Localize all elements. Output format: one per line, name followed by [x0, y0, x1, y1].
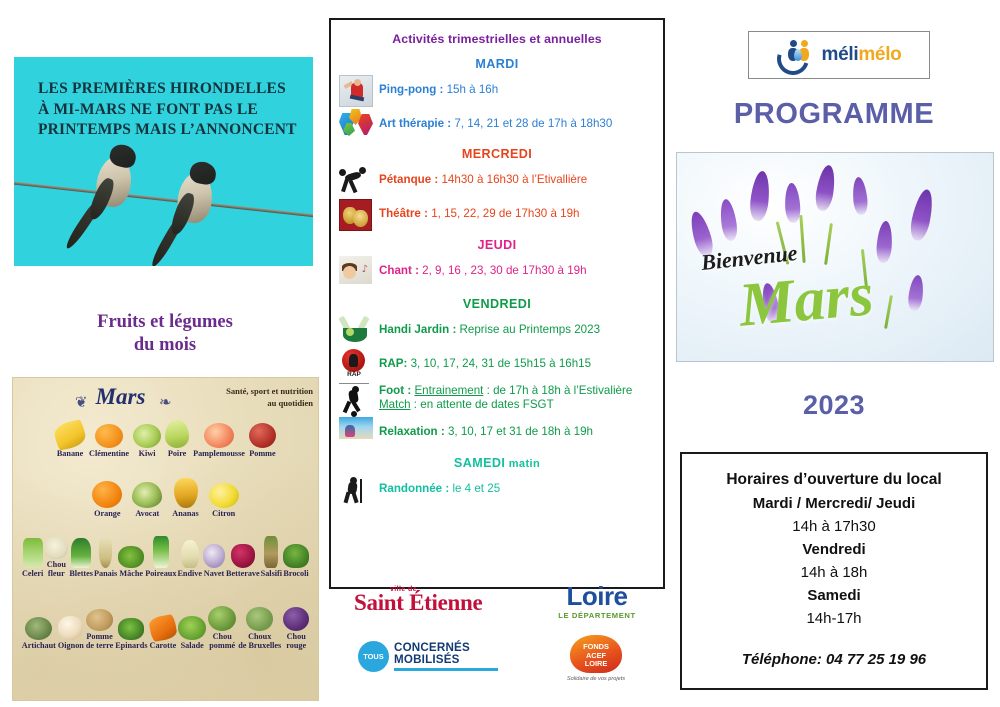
activity-petanque: Pétanque : 14h30 à 16h30 à l’Etivallière — [331, 165, 663, 195]
orangef-icon — [92, 481, 122, 508]
produce-item-label: Citron — [212, 509, 235, 518]
produce-row-fruits-1: BananeClémentineKiwiPoirePamplemoussePom… — [13, 420, 318, 458]
theatre-text: Théâtre : 1, 15, 22, 29 de 17h30 à 19h — [379, 207, 579, 221]
logo-loire-departement: Loire LE DÉPARTEMENT — [542, 583, 652, 620]
produce-item-label: Brocoli — [283, 569, 308, 578]
produce-title-line-2: du mois — [0, 334, 330, 357]
pample-icon — [204, 423, 234, 448]
artichaut-icon — [25, 617, 52, 640]
tous-badge: TOUS — [358, 641, 389, 672]
mache-icon — [118, 546, 144, 568]
foot-line-2: Match : en attente de dates FSGT — [379, 398, 632, 412]
produce-item-label: Panais — [94, 569, 117, 578]
ananas-icon — [174, 478, 198, 508]
produce-item: Avocat — [132, 478, 162, 518]
chant-name: Chant : — [379, 264, 419, 277]
produce-item-label: Salade — [181, 641, 204, 650]
tcm-underline — [394, 668, 498, 671]
proverb-text: LES PREMIÈRES HIRONDELLES À MI-MARS NE F… — [38, 79, 300, 141]
carotte-icon — [148, 614, 178, 642]
foot-training-label: Entrainement — [414, 384, 483, 397]
relaxation-detail: 3, 10, 17 et 31 de 18h à 19h — [445, 425, 593, 438]
salsifi-icon — [264, 536, 278, 568]
poireaux-icon — [153, 536, 169, 568]
day-header-samedi-label: SAMEDI — [454, 456, 505, 470]
randonnee-detail: le 4 et 25 — [449, 482, 500, 495]
produce-item: Orange — [92, 478, 122, 518]
logo-part-2: mélo — [858, 44, 901, 65]
produce-item: Celeri — [22, 536, 43, 578]
produce-item-label: Salsifi — [261, 569, 282, 578]
produce-item-label: Chou rouge — [286, 632, 306, 650]
produce-item: Salade — [178, 606, 206, 650]
citron-icon — [209, 483, 239, 508]
produce-item: Mâche — [118, 536, 144, 578]
petanque-text: Pétanque : 14h30 à 16h30 à l’Etivallière — [379, 173, 587, 187]
produce-item: Brocoli — [283, 536, 309, 578]
produce-item-label: Carotte — [150, 641, 177, 650]
acef-line-3: LOIRE — [585, 659, 608, 668]
chourouge-icon — [283, 607, 309, 631]
pomme-icon — [249, 423, 276, 448]
produce-item-label: Mâche — [119, 569, 143, 578]
oignon-icon — [58, 616, 83, 640]
navet-icon — [203, 544, 225, 568]
hours-days-1: Mardi / Mercredi/ Jeudi — [682, 495, 986, 512]
panais-icon — [99, 538, 112, 568]
produce-item: Kiwi — [133, 420, 161, 458]
hours-days-2: Vendredi — [682, 541, 986, 558]
produce-item: Salsifi — [261, 536, 282, 578]
randonnee-name: Randonnée : — [379, 482, 449, 495]
produce-item-label: Artichaut — [22, 641, 56, 650]
tcm-line-2: MOBILISÉS — [394, 654, 498, 666]
produce-item: Chou pommé — [208, 606, 236, 650]
schedule-title: Activités trimestrielles et annuelles — [331, 32, 663, 46]
produce-item: Chou fleur — [44, 536, 68, 578]
produce-item-label: Chou fleur — [47, 560, 66, 578]
produce-month-label: Mars — [13, 384, 228, 410]
avocat-icon — [132, 482, 162, 508]
loire-subtitle: LE DÉPARTEMENT — [542, 611, 652, 620]
program-flyer: LES PREMIÈRES HIRONDELLES À MI-MARS NE F… — [0, 0, 1000, 707]
produce-item-label: Blettes — [69, 569, 93, 578]
produce-row-fruits-2: OrangeAvocatAnanasCitron — [13, 478, 318, 518]
produce-item-label: Avocat — [135, 509, 159, 518]
betterave-icon — [231, 544, 255, 568]
produce-item: Poireaux — [145, 536, 176, 578]
foot-line-1: Foot : Entrainement : de 17h à 18h à l’E… — [379, 384, 632, 398]
produce-item: Panais — [94, 536, 117, 578]
produce-item-label: Oignon — [58, 641, 84, 650]
produce-item-label: Navet — [204, 569, 224, 578]
produce-item: Clémentine — [89, 420, 129, 458]
produce-tagline: Santé, sport et nutrition au quotidien — [201, 385, 313, 410]
ping-pong-text: Ping-pong : 15h à 16h — [379, 83, 498, 97]
theatre-name: Théâtre : — [379, 207, 428, 220]
day-header-mercredi: MERCREDI — [331, 147, 663, 161]
randonnee-text: Randonnée : le 4 et 25 — [379, 482, 500, 496]
swallow-proverb-poster: LES PREMIÈRES HIRONDELLES À MI-MARS NE F… — [14, 57, 313, 266]
chant-text: Chant : 2, 9, 16 , 23, 30 de 17h30 à 19h — [379, 264, 587, 278]
day-header-jeudi: JEUDI — [331, 238, 663, 252]
produce-item: Choux de Bruxelles — [238, 606, 281, 650]
banana-icon — [53, 419, 88, 451]
opening-hours-box: Horaires d’ouverture du local Mardi / Me… — [680, 452, 988, 690]
theatre-masks-icon — [339, 199, 373, 229]
hiker-icon — [339, 474, 373, 504]
produce-item: Navet — [203, 536, 225, 578]
hours-days-3: Samedi — [682, 587, 986, 604]
activity-randonnee: Randonnée : le 4 et 25 — [331, 474, 663, 504]
produce-item-label: Pomme de terre — [86, 632, 113, 650]
produce-item: Chou rouge — [283, 606, 309, 650]
art-therapie-name: Art thérapie : — [379, 117, 451, 130]
handi-jardin-name: Handi Jardin : — [379, 323, 456, 336]
produce-item-label: Ananas — [172, 509, 198, 518]
epinards-icon — [118, 618, 144, 640]
rap-icon-label: RAP — [339, 371, 369, 378]
activity-chant: ♪ Chant : 2, 9, 16 , 23, 30 de 17h30 à 1… — [331, 256, 663, 286]
proverb-line-1: LES PREMIÈRES HIRONDELLES — [38, 79, 300, 100]
produce-item: Epinards — [115, 606, 147, 650]
acef-subtitle: Solidaire de vos projets — [548, 676, 644, 682]
activity-ping-pong: Ping-pong : 15h à 16h — [331, 75, 663, 105]
produce-item: Betterave — [226, 536, 260, 578]
produce-item-label: Pomme — [249, 449, 275, 458]
logo-part-1: méli — [822, 44, 859, 65]
mars-welcome-image: Bienvenue Mars — [676, 152, 994, 362]
phone-number: Téléphone: 04 77 25 19 96 — [682, 651, 986, 668]
tcm-text: CONCERNÉS MOBILISÉS — [394, 642, 498, 672]
kiwi-icon — [133, 424, 161, 448]
day-header-vendredi: VENDREDI — [331, 297, 663, 311]
saint-etienne-prefix: ville de — [390, 586, 417, 593]
acef-text: FONDS ACEF LOIRE — [570, 643, 622, 669]
hours-time-2: 14h à 18h — [682, 564, 986, 581]
produce-item: Carotte — [150, 606, 177, 650]
sponsor-logos: ville de Saint Étienne Loire LE DÉPARTEM… — [330, 583, 670, 703]
wire-line — [14, 181, 313, 219]
saint-etienne-name: Saint Étienne — [354, 591, 514, 614]
hours-time-1: 14h à 17h30 — [682, 518, 986, 535]
foot-match-label: Match — [379, 398, 411, 411]
brocoli-icon — [283, 544, 309, 568]
choufleur-icon — [44, 537, 68, 559]
relaxation-name: Relaxation : — [379, 425, 445, 438]
produce-item-label: Choux de Bruxelles — [238, 632, 281, 650]
foot-match-detail: : en attente de dates FSGT — [411, 398, 554, 411]
rap-detail: 3, 10, 17, 24, 31 de 15h15 à 16h15 — [407, 357, 591, 370]
produce-item: Oignon — [58, 606, 84, 650]
loire-name: Loire — [542, 583, 652, 609]
produce-item-label: Clémentine — [89, 449, 129, 458]
logo-tous-concernes-mobilises: TOUS CONCERNÉS MOBILISÉS — [358, 641, 498, 672]
produce-item-label: Pamplemousse — [193, 449, 245, 458]
produce-item-label: Betterave — [226, 569, 260, 578]
acef-shield-icon: FONDS ACEF LOIRE — [570, 635, 622, 673]
chant-detail: 2, 9, 16 , 23, 30 de 17h30 à 19h — [419, 264, 587, 277]
ping-pong-detail: 15h à 16h — [443, 83, 498, 96]
produce-row-vegetables-2: ArtichautOignonPomme de terreEpinardsCar… — [13, 606, 318, 650]
blettes-icon — [71, 538, 91, 568]
endive-icon — [181, 540, 199, 568]
programme-heading: PROGRAMME — [668, 98, 1000, 131]
handi-jardin-detail: Reprise au Printemps 2023 — [456, 323, 600, 336]
produce-item: Citron — [209, 478, 239, 518]
activity-art-therapie: Art thérapie : 7, 14, 21 et 28 de 17h à … — [331, 109, 663, 139]
art-therapy-icon — [339, 109, 373, 139]
produce-item: Ananas — [172, 478, 198, 518]
activity-theatre: Théâtre : 1, 15, 22, 29 de 17h30 à 19h — [331, 199, 663, 229]
produce-item: Poire — [165, 420, 189, 458]
petanque-detail: 14h30 à 16h30 à l’Etivallière — [438, 173, 587, 186]
art-therapie-text: Art thérapie : 7, 14, 21 et 28 de 17h à … — [379, 117, 612, 131]
produce-item: Pamplemousse — [193, 420, 245, 458]
produce-item-label: Endive — [177, 569, 202, 578]
choupomme-icon — [208, 606, 236, 631]
clementine-icon — [95, 424, 123, 448]
rap-name: RAP: — [379, 357, 407, 370]
produce-title: Fruits et légumes du mois — [0, 311, 330, 357]
left-column: LES PREMIÈRES HIRONDELLES À MI-MARS NE F… — [0, 0, 330, 707]
foot-name: Foot : — [379, 384, 411, 397]
produce-item-label: Banane — [57, 449, 83, 458]
produce-item-label: Epinards — [115, 641, 147, 650]
ping-pong-icon — [339, 75, 373, 105]
logo-fonds-acef: FONDS ACEF LOIRE Solidaire de vos projet… — [548, 635, 644, 682]
relaxation-text: Relaxation : 3, 10, 17 et 31 de 18h à 19… — [379, 425, 593, 439]
activity-relaxation: Relaxation : 3, 10, 17 et 31 de 18h à 19… — [331, 417, 663, 447]
produce-tagline-line-1: Santé, sport et nutrition — [201, 385, 313, 397]
produce-item-label: Celeri — [22, 569, 43, 578]
melimelo-logo: mélimélo — [748, 31, 930, 79]
produce-item-label: Orange — [94, 509, 120, 518]
rap-text: RAP: 3, 10, 17, 24, 31 de 15h15 à 16h15 — [379, 357, 591, 371]
ping-pong-name: Ping-pong : — [379, 83, 443, 96]
pdt-icon — [86, 609, 113, 631]
chant-icon: ♪ — [339, 256, 373, 286]
produce-item: Pomme — [249, 420, 276, 458]
year-heading: 2023 — [668, 390, 1000, 421]
rap-icon: RAP — [339, 349, 373, 379]
produce-item: Blettes — [69, 536, 93, 578]
produce-item-label: Chou pommé — [209, 632, 235, 650]
petanque-icon — [339, 165, 373, 195]
handi-jardin-text: Handi Jardin : Reprise au Printemps 2023 — [379, 323, 600, 337]
produce-tagline-line-2: au quotidien — [201, 397, 313, 409]
poire-icon — [165, 420, 189, 448]
activity-rap: RAP RAP: 3, 10, 17, 24, 31 de 15h15 à 16… — [331, 349, 663, 379]
activity-foot: Foot : Entrainement : de 17h à 18h à l’E… — [331, 383, 663, 413]
logo-saint-etienne: ville de Saint Étienne — [354, 591, 514, 614]
produce-item: Banane — [55, 420, 85, 458]
day-header-mardi: MARDI — [331, 57, 663, 71]
hours-time-3: 14h-17h — [682, 610, 986, 627]
proverb-line-2: À MI-MARS NE FONT PAS LE — [38, 100, 300, 121]
garden-tools-icon — [339, 315, 373, 345]
salade-icon — [178, 616, 206, 640]
activities-schedule-box: Activités trimestrielles et annuelles MA… — [329, 18, 665, 589]
melimelo-mark-icon — [777, 40, 817, 70]
proverb-line-3: PRINTEMPS MAIS L’ANNONCENT — [38, 120, 300, 141]
produce-item: Pomme de terre — [86, 606, 113, 650]
football-player-icon — [339, 383, 373, 413]
produce-title-line-1: Fruits et légumes — [0, 311, 330, 334]
produce-item-label: Poire — [168, 449, 187, 458]
foot-training-detail: : de 17h à 18h à l’Estivalière — [483, 384, 632, 397]
produce-item: Artichaut — [22, 606, 56, 650]
celeri-icon — [23, 538, 43, 568]
choux-icon — [246, 607, 273, 631]
flourish-right-icon: ❧ — [159, 393, 172, 411]
right-column: mélimélo PROGRAMME Bienvenue Mars 2023 — [668, 0, 1000, 707]
produce-item-label: Poireaux — [145, 569, 176, 578]
day-header-samedi: SAMEDI matin — [331, 456, 663, 470]
produce-item: Endive — [177, 536, 202, 578]
activity-handi-jardin: Handi Jardin : Reprise au Printemps 2023 — [331, 315, 663, 345]
produce-item-label: Kiwi — [139, 449, 156, 458]
produce-poster: ❦ Mars ❧ Santé, sport et nutrition au qu… — [12, 377, 319, 701]
opening-hours-title: Horaires d’ouverture du local — [682, 471, 986, 489]
day-header-samedi-suffix: matin — [505, 458, 540, 470]
produce-poster-header: ❦ Mars ❧ Santé, sport et nutrition au qu… — [13, 384, 318, 418]
relaxation-icon — [339, 417, 373, 447]
foot-text: Foot : Entrainement : de 17h à 18h à l’E… — [379, 384, 632, 413]
produce-row-vegetables-1: CeleriChou fleurBlettesPanaisMâchePoirea… — [13, 536, 318, 578]
petanque-name: Pétanque : — [379, 173, 438, 186]
art-therapie-detail: 7, 14, 21 et 28 de 17h à 18h30 — [451, 117, 612, 130]
mars-month-text: Mars — [736, 259, 876, 341]
theatre-detail: 1, 15, 22, 29 de 17h30 à 19h — [428, 207, 580, 220]
melimelo-wordmark: mélimélo — [822, 44, 902, 66]
